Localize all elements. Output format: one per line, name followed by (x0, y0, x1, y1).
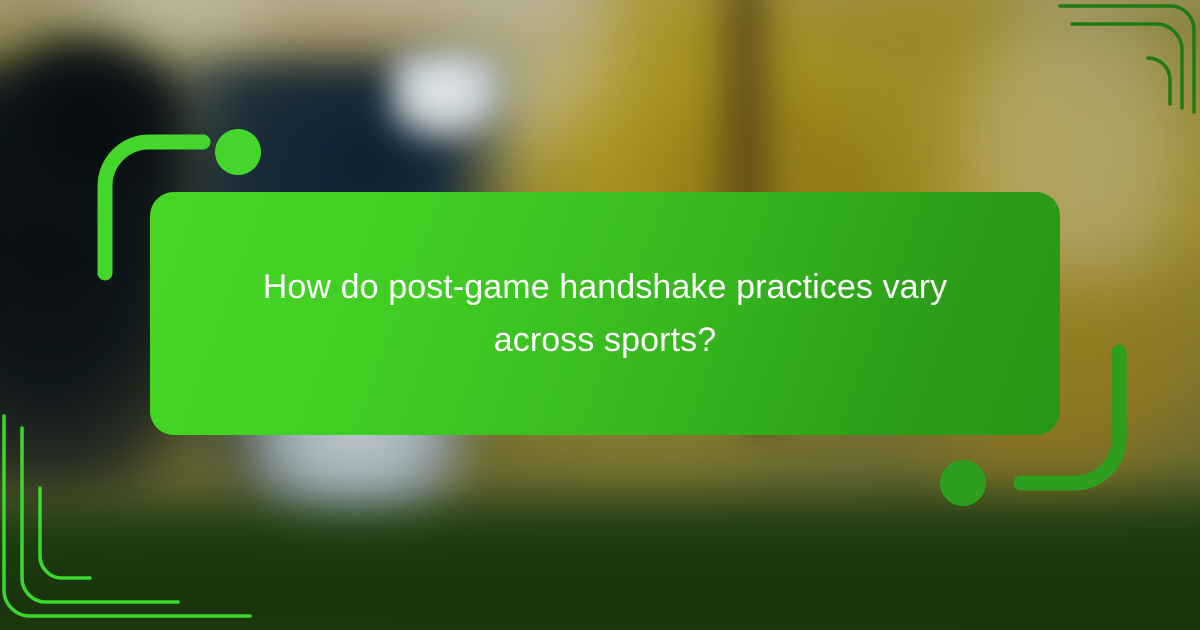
corner-lines-top-right (1000, 0, 1200, 120)
accent-dot-top (215, 129, 261, 175)
share-card-canvas: How do post-game handshake practices var… (0, 0, 1200, 630)
accent-dot-bottom (940, 460, 986, 506)
page-title: How do post-game handshake practices var… (215, 261, 995, 366)
corner-lines-bottom-left (0, 410, 260, 630)
headline-card: How do post-game handshake practices var… (150, 192, 1060, 435)
